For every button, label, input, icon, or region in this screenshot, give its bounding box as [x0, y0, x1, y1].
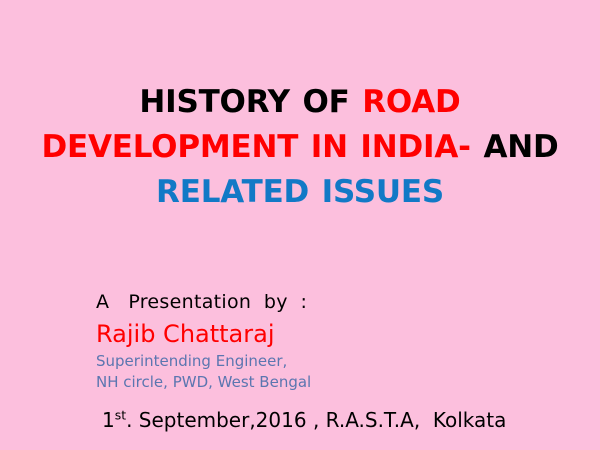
presenter-designation: Superintending Engineer,	[96, 351, 566, 371]
presentation-slide: HISTORY OF ROAD DEVELOPMENT IN INDIA- AN…	[0, 0, 600, 450]
event-day-number: 1	[102, 408, 115, 432]
title-segment-and: AND	[483, 129, 571, 165]
event-date-venue: 1st. September,2016 , R.A.S.T.A, Kolkata	[102, 407, 566, 433]
presenter-block: A Presentation by : Rajib Chattaraj Supe…	[96, 289, 566, 433]
title-segment-related-issues: RELATED ISSUES	[156, 174, 444, 210]
presenter-name: Rajib Chattaraj	[96, 319, 566, 350]
slide-title: HISTORY OF ROAD DEVELOPMENT IN INDIA- AN…	[28, 80, 572, 215]
title-segment-history-of: HISTORY OF	[139, 84, 362, 120]
event-day-ordinal-suffix: st	[115, 407, 126, 422]
event-date-venue-rest: . September,2016 , R.A.S.T.A, Kolkata	[126, 408, 506, 432]
presenter-office: NH circle, PWD, West Bengal	[96, 372, 566, 392]
presentation-by-label: A Presentation by :	[96, 289, 566, 315]
